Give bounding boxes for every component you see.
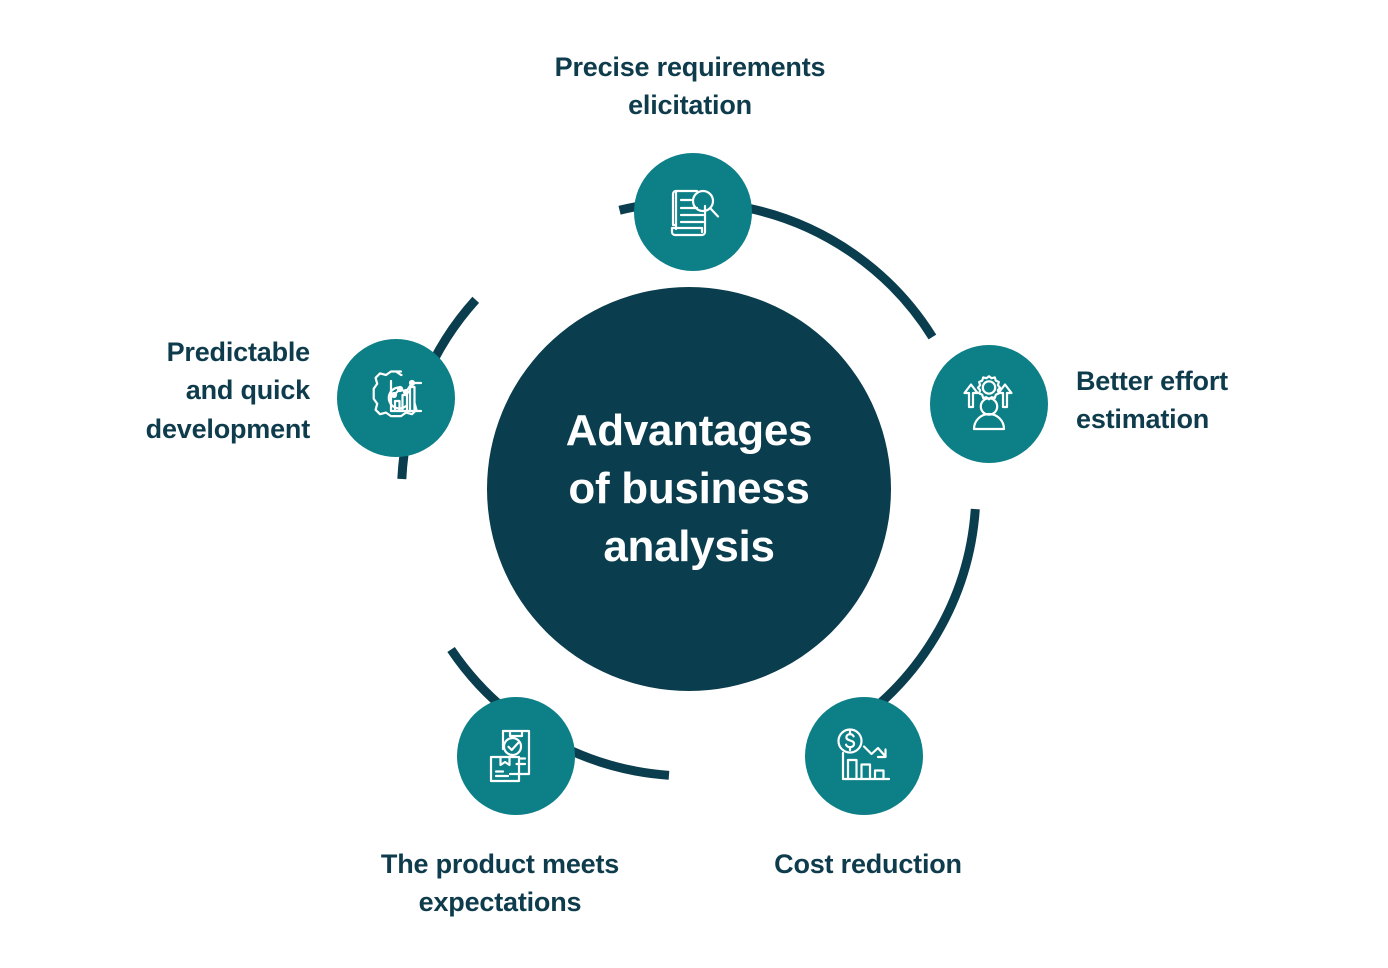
node-predictable-and-quick-development[interactable] xyxy=(337,339,455,457)
node-the-product-meets-expectations[interactable] xyxy=(457,697,575,815)
node-cost-reduction[interactable] xyxy=(805,697,923,815)
declining-bar-chart-dollar-icon xyxy=(833,727,895,785)
gear-growth-chart-icon xyxy=(365,367,427,429)
label-cost-reduction: Cost reduction xyxy=(648,845,1088,883)
node-precise-requirements-elicitation[interactable] xyxy=(634,153,752,271)
node-better-effort-estimation[interactable] xyxy=(930,345,1048,463)
diagram-canvas: Advantages of business analysis xyxy=(0,0,1388,968)
hub-circle: Advantages of business analysis xyxy=(487,287,891,691)
label-precise-requirements-elicitation: Precise requirements elicitation xyxy=(440,48,940,125)
hub-title: Advantages of business analysis xyxy=(538,402,840,576)
label-predictable-and-quick-development: Predictable and quick development xyxy=(30,333,310,448)
document-magnifier-icon xyxy=(662,181,724,243)
clipboard-check-package-icon xyxy=(485,726,547,786)
person-gear-arrows-icon xyxy=(957,373,1021,435)
label-better-effort-estimation: Better effort estimation xyxy=(1076,362,1366,439)
label-the-product-meets-expectations: The product meets expectations xyxy=(300,845,700,922)
